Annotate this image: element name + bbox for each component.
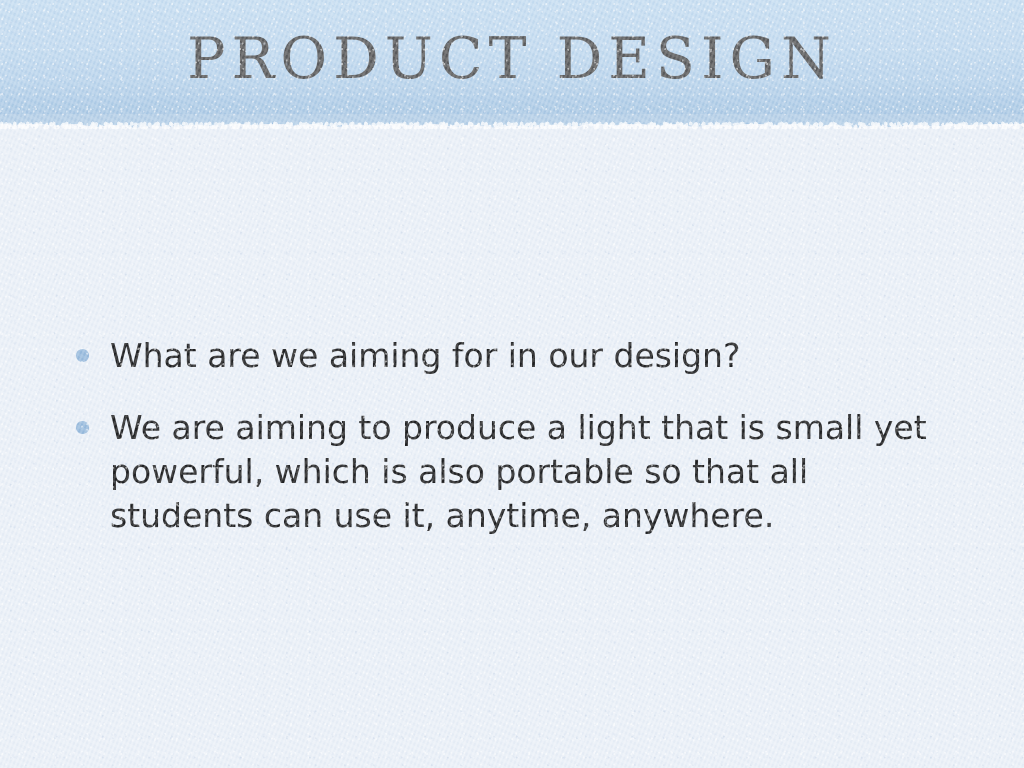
bullet-item-label: What are we aiming for in our design?	[110, 334, 960, 378]
slide: Product Design What are we aiming for in…	[0, 0, 1024, 768]
bullet-dot-icon	[76, 349, 89, 362]
bullet-list-item: What are we aiming for in our design?	[70, 334, 960, 378]
slide-title: Product Design	[0, 26, 1024, 92]
slide-body: What are we aiming for in our design? We…	[70, 334, 960, 538]
bullet-item-label: We are aiming to produce a light that is…	[110, 406, 960, 538]
bullet-list-item: We are aiming to produce a light that is…	[70, 406, 960, 538]
bullet-dot-icon	[76, 421, 89, 434]
